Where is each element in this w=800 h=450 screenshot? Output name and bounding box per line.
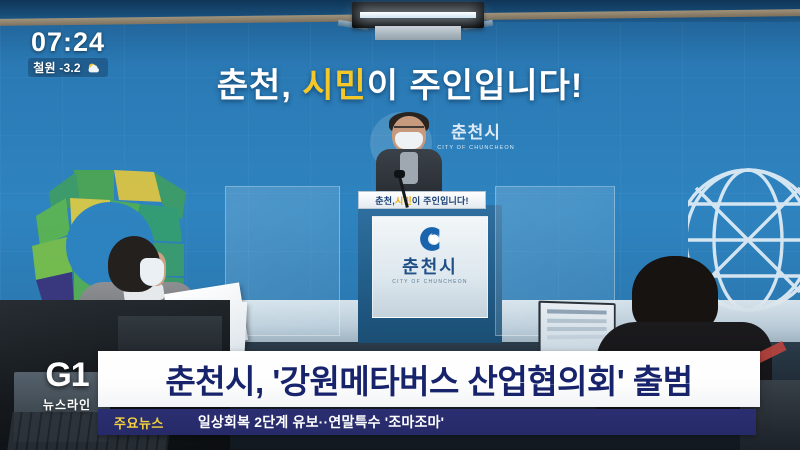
clock-weather-overlay: 07:24 철원 -3.2	[12, 28, 124, 77]
wall-city-mark-en: CITY OF CHUNCHEON	[428, 145, 524, 151]
station-logo-mark: G1	[28, 358, 106, 392]
station-logo: G1 뉴스라인	[28, 358, 106, 413]
microphone-head-icon	[394, 170, 405, 178]
station-program-name: 뉴스라인	[28, 396, 106, 413]
broadcast-screen: 춘천, 시민이 주인입니다! 춘천시 CITY OF CHUNCHEON 춘천시…	[0, 0, 800, 450]
podium-city-mark-en: CITY OF CHUNCHEON	[372, 279, 488, 285]
wall-city-mark: 춘천시 CITY OF CHUNCHEON	[428, 118, 524, 151]
podium-city-mark: 춘천시 CITY OF CHUNCHEON	[372, 222, 488, 285]
podium-slogan-part2: 이 주인입니다!	[412, 196, 469, 206]
light-base-plate	[375, 26, 461, 40]
weather-text: 철원 -3.2	[33, 59, 81, 76]
wall-slogan-part1: 춘천,	[217, 67, 302, 105]
podium-slogan-part1: 춘천,	[375, 196, 395, 206]
speaker-face-mask	[395, 132, 423, 149]
podium-slogan-text: 춘천,시민이 주인입니다!	[375, 194, 468, 207]
attendee-left-face-mask	[140, 258, 164, 286]
ticker-text: 일상회복 2단계 유보··연말특수 '조마조마'	[176, 412, 444, 432]
podium-city-mark-kr: 춘천시	[372, 258, 488, 276]
podium-slogan-sign: 춘천,시민이 주인입니다!	[358, 191, 486, 209]
ticker-label: 주요뉴스	[98, 413, 176, 432]
headline-text: 춘천시, '강원메타버스 산업협의회' 출범	[165, 355, 692, 403]
headline-bar: 춘천시, '강원메타버스 산업협의회' 출범	[98, 351, 760, 407]
wall-slogan-highlight: 시민	[302, 67, 367, 105]
sun-behind-cloud-icon	[86, 61, 103, 74]
wall-city-mark-kr: 춘천시	[428, 118, 524, 143]
speaker-shirt	[400, 152, 418, 184]
clock-time: 07:24	[12, 28, 124, 56]
light-tube	[360, 12, 476, 18]
chuncheon-c-emblem-icon	[413, 222, 447, 256]
weather-row: 철원 -3.2	[28, 58, 108, 77]
wall-slogan-part2: 이 주인입니다!	[367, 67, 583, 105]
news-ticker-bar: 주요뉴스 일상회복 2단계 유보··연말특수 '조마조마'	[98, 409, 756, 435]
